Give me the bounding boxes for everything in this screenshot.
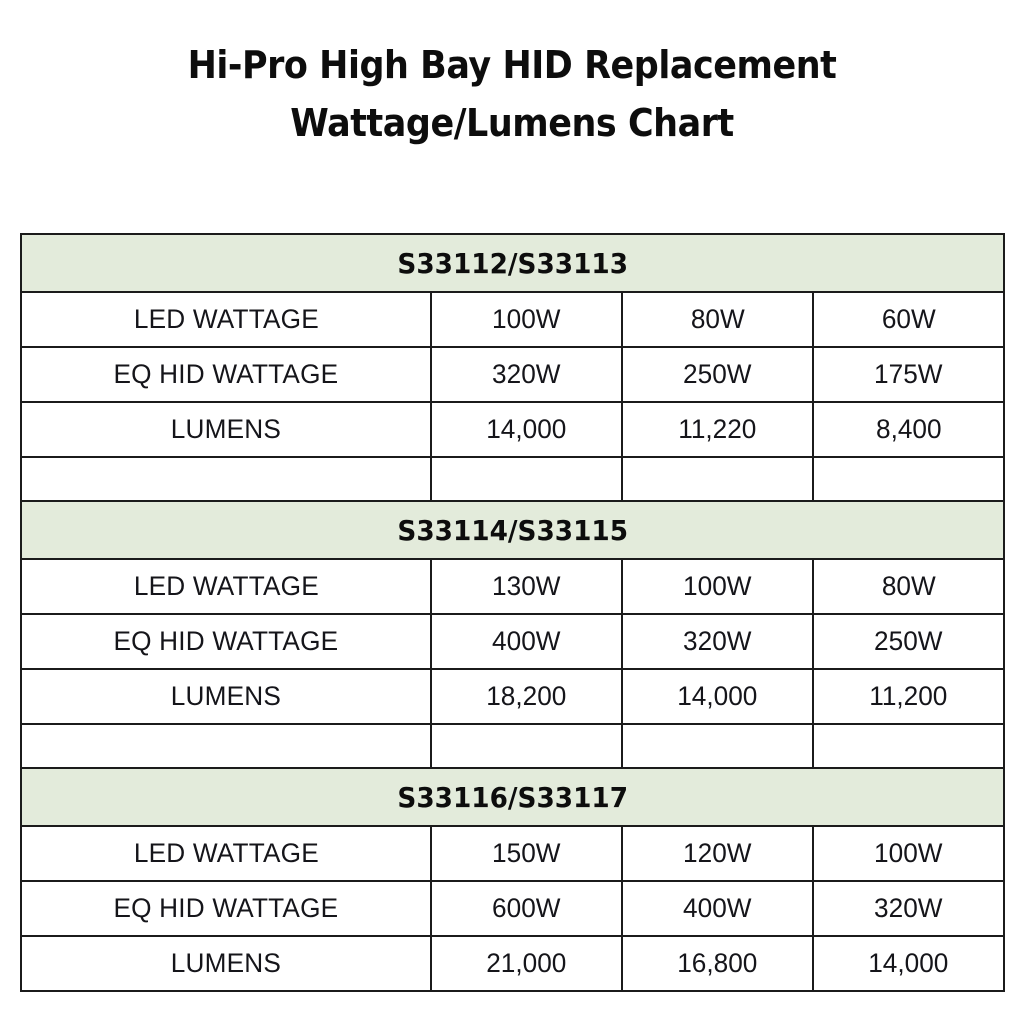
row-label-cell: EQ HID WATTAGE (21, 614, 431, 669)
row-value: 400W (492, 626, 560, 657)
row-value-cell: 320W (431, 347, 622, 402)
row-value: 130W (492, 571, 560, 602)
row-value: 600W (492, 893, 560, 924)
row-value-cell: 100W (622, 559, 813, 614)
table-row: LUMENS 18,200 14,000 11,200 (21, 669, 1004, 724)
table-row: LUMENS 14,000 11,220 8,400 (21, 402, 1004, 457)
spacer-row (21, 457, 1004, 501)
row-value-cell: 120W (622, 826, 813, 881)
spacer-cell (813, 724, 1004, 768)
row-value: 18,200 (486, 681, 566, 712)
page-title-line-2: Wattage/Lumens Chart (41, 94, 983, 152)
row-value: 11,220 (678, 414, 756, 445)
row-value: 320W (683, 626, 751, 657)
row-value: 100W (492, 304, 560, 335)
row-label-cell: LED WATTAGE (21, 826, 431, 881)
row-value: 400W (683, 893, 751, 924)
section-header-row: S33114/S33115 (21, 501, 1004, 559)
table-row: LED WATTAGE 100W 80W 60W (21, 292, 1004, 347)
row-value: 120W (683, 838, 751, 869)
row-value: 11,200 (869, 681, 947, 712)
section-header-label: S33116/S33117 (397, 781, 628, 814)
row-label: LED WATTAGE (134, 571, 319, 602)
row-value: 8,400 (876, 414, 942, 445)
row-value-cell: 11,220 (622, 402, 813, 457)
row-value: 21,000 (486, 948, 566, 979)
row-label-cell: EQ HID WATTAGE (21, 881, 431, 936)
row-label: LED WATTAGE (134, 838, 319, 869)
spacer-cell (21, 724, 431, 768)
wattage-lumens-table: S33112/S33113 LED WATTAGE 100W 80W 60W E… (20, 233, 1005, 992)
row-label: EQ HID WATTAGE (114, 893, 339, 924)
row-label: LUMENS (171, 681, 281, 712)
row-value-cell: 150W (431, 826, 622, 881)
section-header-cell: S33112/S33113 (21, 234, 1004, 292)
table-row: LUMENS 21,000 16,800 14,000 (21, 936, 1004, 991)
row-value-cell: 320W (813, 881, 1004, 936)
row-label-cell: LED WATTAGE (21, 559, 431, 614)
section-header-cell: S33116/S33117 (21, 768, 1004, 826)
row-value-cell: 60W (813, 292, 1004, 347)
row-value: 250W (874, 626, 942, 657)
row-value: 150W (492, 838, 560, 869)
row-value-cell: 320W (622, 614, 813, 669)
table-row: EQ HID WATTAGE 600W 400W 320W (21, 881, 1004, 936)
row-value-cell: 80W (813, 559, 1004, 614)
row-label-cell: LUMENS (21, 402, 431, 457)
row-value: 320W (492, 359, 560, 390)
section-header-cell: S33114/S33115 (21, 501, 1004, 559)
section-header-row: S33112/S33113 (21, 234, 1004, 292)
row-value: 250W (683, 359, 751, 390)
row-value: 80W (691, 304, 745, 335)
page-title-line-1: Hi-Pro High Bay HID Replacement (41, 36, 983, 94)
section-header-label: S33114/S33115 (397, 514, 628, 547)
row-value-cell: 250W (813, 614, 1004, 669)
row-value: 14,000 (868, 948, 948, 979)
row-value: 14,000 (677, 681, 757, 712)
row-value: 80W (882, 571, 936, 602)
row-value-cell: 21,000 (431, 936, 622, 991)
spacer-cell (622, 724, 813, 768)
row-value-cell: 16,800 (622, 936, 813, 991)
row-value: 100W (683, 571, 751, 602)
row-value: 14,000 (486, 414, 566, 445)
row-value: 60W (882, 304, 936, 335)
spacer-cell (431, 457, 622, 501)
row-value-cell: 11,200 (813, 669, 1004, 724)
row-value-cell: 100W (431, 292, 622, 347)
row-label: LUMENS (171, 948, 281, 979)
section-header-row: S33116/S33117 (21, 768, 1004, 826)
table-row: LED WATTAGE 150W 120W 100W (21, 826, 1004, 881)
spacer-cell (813, 457, 1004, 501)
row-label: EQ HID WATTAGE (114, 359, 339, 390)
row-value-cell: 14,000 (813, 936, 1004, 991)
spacer-cell (431, 724, 622, 768)
table-body: S33112/S33113 LED WATTAGE 100W 80W 60W E… (21, 234, 1004, 991)
table-row: EQ HID WATTAGE 320W 250W 175W (21, 347, 1004, 402)
row-value-cell: 130W (431, 559, 622, 614)
row-value: 100W (874, 838, 942, 869)
row-value-cell: 400W (622, 881, 813, 936)
row-value-cell: 400W (431, 614, 622, 669)
section-header-label: S33112/S33113 (397, 247, 628, 280)
row-value-cell: 600W (431, 881, 622, 936)
row-label-cell: LUMENS (21, 936, 431, 991)
page-title: Hi-Pro High Bay HID Replacement Wattage/… (0, 36, 1024, 152)
row-value-cell: 250W (622, 347, 813, 402)
row-value: 16,800 (677, 948, 757, 979)
table-row: LED WATTAGE 130W 100W 80W (21, 559, 1004, 614)
row-value-cell: 14,000 (431, 402, 622, 457)
row-label-cell: EQ HID WATTAGE (21, 347, 431, 402)
row-value: 320W (874, 893, 942, 924)
row-label-cell: LED WATTAGE (21, 292, 431, 347)
spacer-cell (622, 457, 813, 501)
row-value-cell: 8,400 (813, 402, 1004, 457)
row-value-cell: 175W (813, 347, 1004, 402)
row-value: 175W (874, 359, 942, 390)
table-row: EQ HID WATTAGE 400W 320W 250W (21, 614, 1004, 669)
row-label: LED WATTAGE (134, 304, 319, 335)
row-value-cell: 80W (622, 292, 813, 347)
row-label: EQ HID WATTAGE (114, 626, 339, 657)
row-label: LUMENS (171, 414, 281, 445)
row-value-cell: 14,000 (622, 669, 813, 724)
wattage-lumens-chart-page: Hi-Pro High Bay HID Replacement Wattage/… (0, 0, 1024, 1024)
row-value-cell: 18,200 (431, 669, 622, 724)
row-value-cell: 100W (813, 826, 1004, 881)
row-label-cell: LUMENS (21, 669, 431, 724)
spacer-cell (21, 457, 431, 501)
spacer-row (21, 724, 1004, 768)
